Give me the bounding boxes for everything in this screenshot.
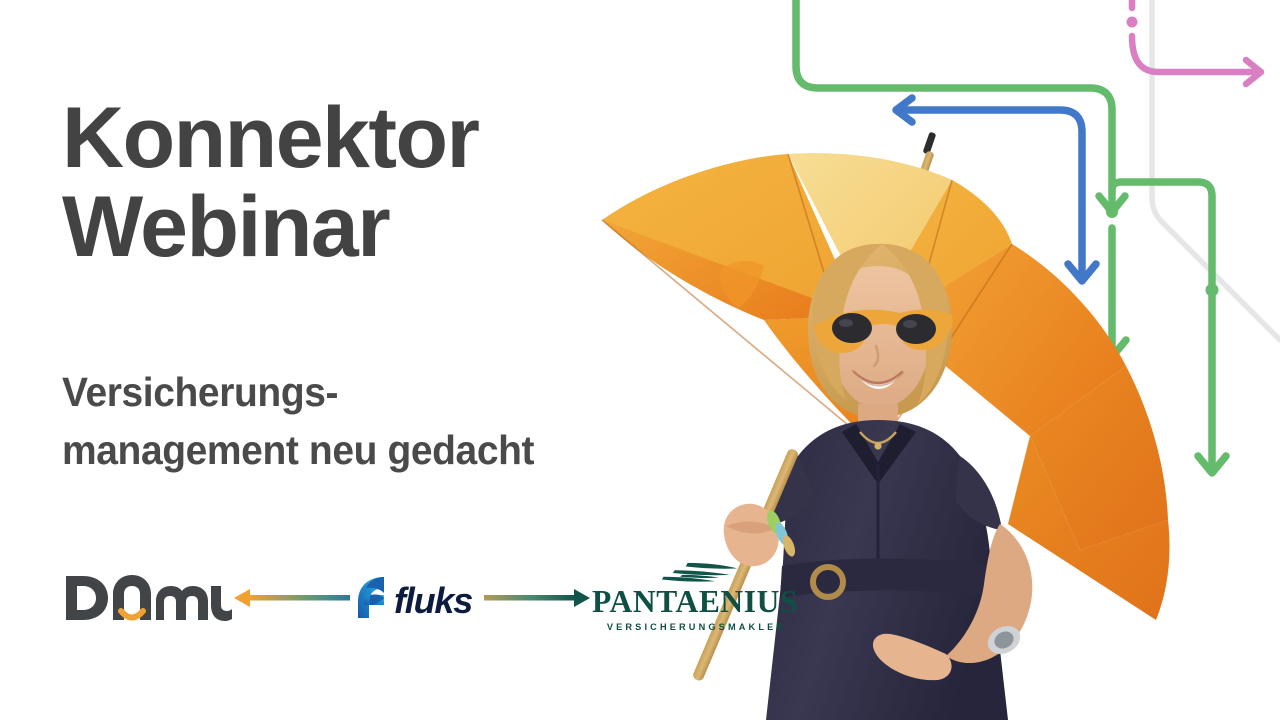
green-arrow-elbow — [1112, 182, 1226, 473]
pantaenius-logo: PANTAENIUS VERSICHERUNGSMAKLER — [592, 561, 798, 635]
pink-junction-dot — [1127, 17, 1138, 28]
page-title: Konnektor Webinar — [62, 94, 702, 271]
sunglasses — [813, 309, 953, 353]
green-junction-dot-1 — [1106, 206, 1118, 218]
bracelets — [764, 509, 797, 558]
connector-arrow-left — [232, 586, 350, 610]
green-junction-dot-2 — [1206, 284, 1219, 297]
decorative-arrow-graphics — [760, 0, 1280, 520]
umbrella-shaft — [905, 132, 936, 216]
svg-text:fluks: fluks — [394, 580, 472, 621]
fluks-logo: fluks — [350, 571, 484, 625]
connector-arrow-right — [484, 586, 592, 610]
pantaenius-wave-icon — [647, 561, 743, 585]
woman-head — [808, 244, 953, 418]
green-arrow-short — [1098, 228, 1126, 357]
webinar-title-slide: Konnektor Webinar Versicherungs- managem… — [0, 0, 1280, 720]
gray-guide-line — [1152, 0, 1280, 340]
page-subtitle: Versicherungs- management neu gedacht — [62, 363, 670, 479]
green-arrow-long — [796, 0, 1125, 212]
pantaenius-tagline: VERSICHERUNGSMAKLER — [592, 622, 798, 632]
pink-arrow — [1132, 0, 1261, 84]
pantaenius-wordmark: PANTAENIUS — [592, 586, 798, 618]
text-block: Konnektor Webinar Versicherungs- managem… — [62, 94, 702, 480]
wristwatch — [983, 621, 1025, 660]
blue-arrow — [896, 98, 1096, 281]
partner-logo-row: fluks — [64, 552, 798, 644]
domus-logo — [64, 570, 232, 626]
